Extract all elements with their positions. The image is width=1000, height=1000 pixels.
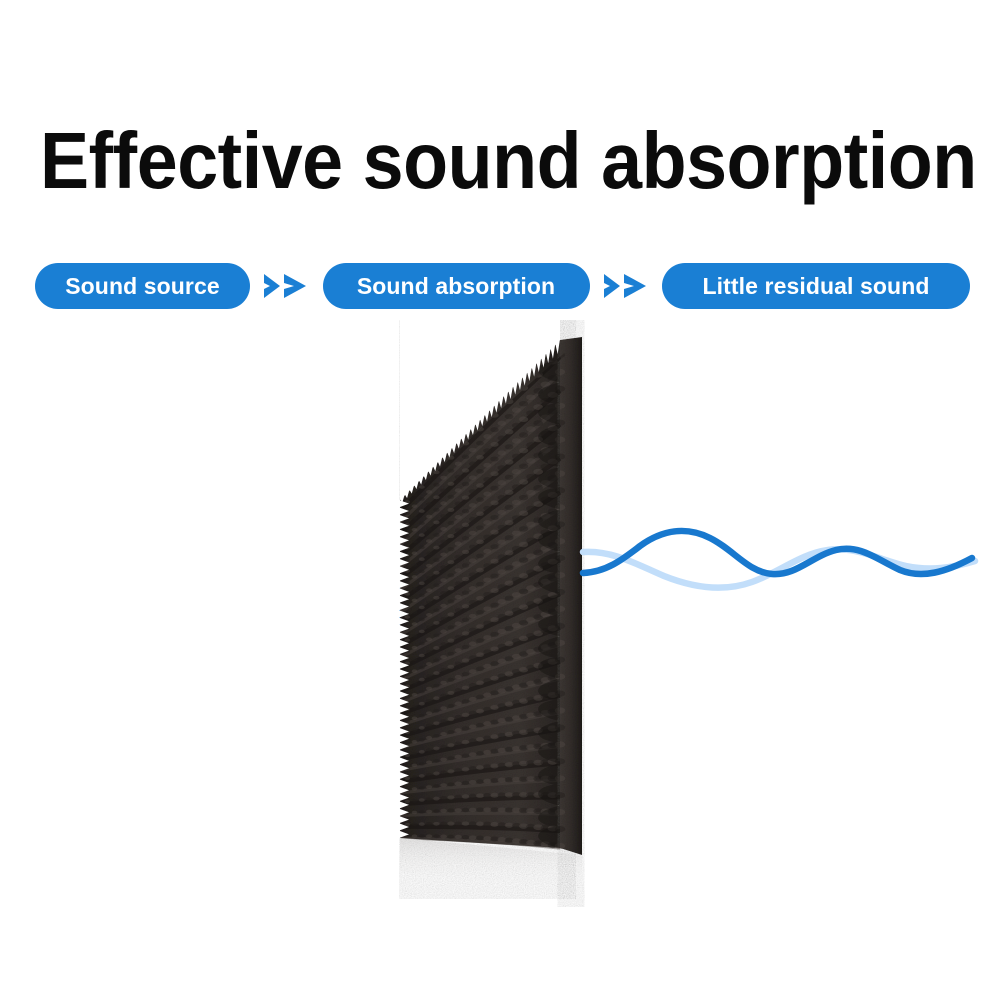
acoustic-foam-panel xyxy=(0,320,1000,920)
step-badge-little-residual-sound[interactable]: Little residual sound xyxy=(662,263,970,309)
step-badge-label: Sound source xyxy=(65,273,220,300)
step-badge-label: Little residual sound xyxy=(702,273,929,300)
page-title: Effective sound absorption xyxy=(40,118,960,204)
illustration-canvas: Effective sound absorption Sound source … xyxy=(0,0,1000,1000)
absorption-diagram xyxy=(0,320,1000,920)
double-chevron-right-icon-2 xyxy=(596,271,656,301)
double-chevron-right-icon-1 xyxy=(256,271,316,301)
process-steps: Sound source Sound absorption Little res… xyxy=(35,262,970,310)
step-badge-label: Sound absorption xyxy=(357,273,555,300)
step-badge-sound-source[interactable]: Sound source xyxy=(35,263,250,309)
foam-sawtooth-edge xyxy=(0,320,409,920)
step-badge-sound-absorption[interactable]: Sound absorption xyxy=(323,263,590,309)
